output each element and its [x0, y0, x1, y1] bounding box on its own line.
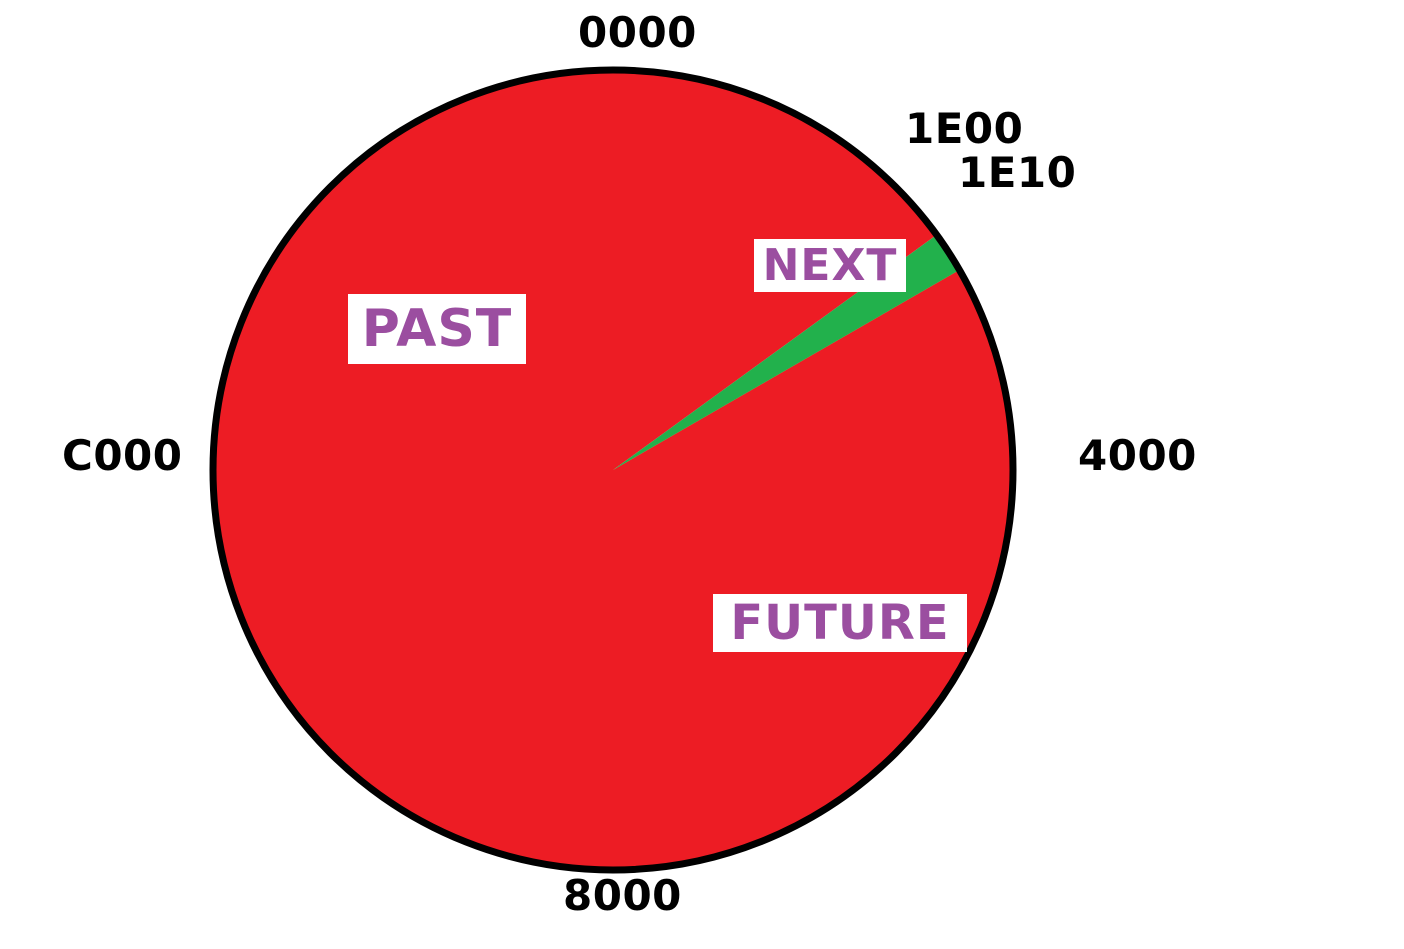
tick-label-c000: C000 [62, 435, 183, 477]
region-label-past: PAST [348, 294, 526, 364]
diagram-canvas: 0000 1E00 1E10 4000 8000 C000 PAST NEXT … [0, 0, 1404, 949]
tick-label-0000: 0000 [578, 12, 697, 54]
region-label-next: NEXT [754, 239, 906, 292]
wedge-past[interactable] [213, 70, 1013, 870]
tick-label-8000: 8000 [563, 875, 682, 917]
tick-label-1e10: 1E10 [958, 152, 1076, 194]
tick-label-4000: 4000 [1078, 435, 1197, 477]
region-label-future: FUTURE [713, 594, 967, 652]
tick-label-1e00: 1E00 [905, 108, 1023, 150]
